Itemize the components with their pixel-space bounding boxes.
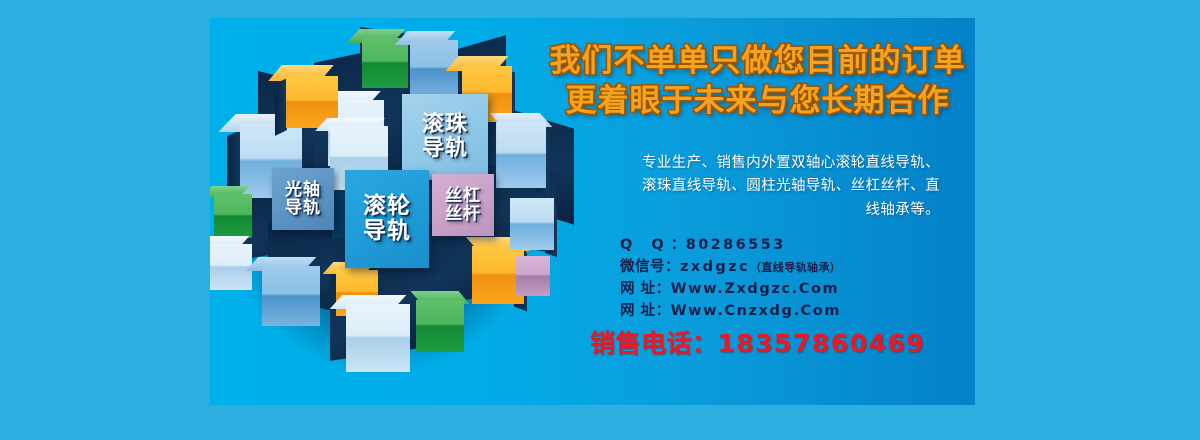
contact-value-qq[interactable]: 80286553 bbox=[686, 234, 786, 256]
sales-phone[interactable]: 销售电话：18357860469 bbox=[540, 324, 975, 360]
headline: 我们不单单只做您目前的订单 更着眼于未来与您长期合作 bbox=[540, 42, 975, 121]
copy-column: 我们不单单只做您目前的订单 更着眼于未来与您长期合作 专业生产、销售内外置双轴心… bbox=[540, 18, 975, 405]
cube-green bbox=[214, 194, 252, 238]
product-label-guangzhou-daogui[interactable]: 光轴 导轨 bbox=[272, 168, 334, 230]
description-paragraph: 专业生产、销售内外置双轴心滚轮直线导轨、 滚珠直线导轨、圆柱光轴导轨、丝杠丝杆、… bbox=[540, 152, 940, 222]
sales-phone-label: 销售电话： bbox=[590, 329, 718, 358]
product-label-line2: 导轨 bbox=[285, 199, 321, 217]
product-label-line1: 滚轮 bbox=[363, 194, 411, 219]
cube-green bbox=[362, 38, 408, 88]
contact-row-qq: Q Q ： 80286553 bbox=[540, 234, 975, 256]
contact-row-wechat: 微信号 ： zxdgzc （直线导轨轴承） bbox=[540, 256, 975, 278]
product-label-line1: 滚珠 bbox=[422, 113, 468, 137]
cube-pale bbox=[210, 244, 252, 290]
contact-label-qq: Q Q bbox=[620, 234, 671, 256]
product-label-sigang-sigan[interactable]: 丝杠 丝杆 bbox=[432, 174, 494, 236]
product-label-line2: 导轨 bbox=[363, 219, 411, 244]
contact-block: Q Q ： 80286553 微信号 ： zxdgzc （直线导轨轴承） 网 址… bbox=[540, 234, 975, 322]
contact-value-wechat[interactable]: zxdgzc bbox=[680, 256, 750, 278]
contact-separator: ： bbox=[665, 256, 680, 278]
banner-advertisement: 滚珠 导轨 光轴 导轨 滚轮 导轨 丝杠 丝杆 我们不单单只做您目前的订单 更着… bbox=[0, 0, 1200, 440]
description-line-3: 线轴承等。 bbox=[540, 199, 940, 222]
contact-note-wechat: （直线导轨轴承） bbox=[750, 260, 841, 277]
banner-panel: 滚珠 导轨 光轴 导轨 滚轮 导轨 丝杠 丝杆 我们不单单只做您目前的订单 更着… bbox=[210, 18, 975, 405]
description-line-2: 滚珠直线导轨、圆柱光轴导轨、丝杠丝杆、直 bbox=[540, 175, 940, 198]
contact-value-website-2[interactable]: Www.Cnzxdg.Com bbox=[671, 300, 842, 322]
cube-green bbox=[416, 300, 464, 352]
description-line-1: 专业生产、销售内外置双轴心滚轮直线导轨、 bbox=[540, 152, 940, 175]
product-label-line2: 丝杆 bbox=[445, 205, 481, 223]
contact-label-website: 网 址 bbox=[620, 278, 656, 300]
headline-line-2: 更着眼于未来与您长期合作 bbox=[540, 82, 975, 122]
contact-separator: ： bbox=[656, 300, 671, 322]
product-label-line1: 光轴 bbox=[285, 181, 321, 199]
contact-label-website: 网 址 bbox=[620, 300, 656, 322]
headline-line-1: 我们不单单只做您目前的订单 bbox=[540, 42, 975, 82]
product-label-gunzhu-daogui[interactable]: 滚珠 导轨 bbox=[402, 94, 488, 180]
contact-separator: ： bbox=[671, 234, 686, 256]
cube-pale bbox=[346, 304, 410, 372]
cube-blue bbox=[262, 266, 320, 326]
sales-phone-number[interactable]: 18357860469 bbox=[717, 329, 925, 358]
contact-row-website-1: 网 址 ： Www.Zxdgzc.Com bbox=[540, 278, 975, 300]
contact-row-website-2: 网 址 ： Www.Cnzxdg.Com bbox=[540, 300, 975, 322]
product-label-line2: 导轨 bbox=[422, 137, 468, 161]
cube-blue bbox=[496, 122, 546, 188]
contact-separator: ： bbox=[656, 278, 671, 300]
contact-value-website-1[interactable]: Www.Zxdgzc.Com bbox=[671, 278, 840, 300]
product-label-line1: 丝杠 bbox=[445, 187, 481, 205]
product-label-gunlun-daogui[interactable]: 滚轮 导轨 bbox=[345, 170, 429, 268]
contact-label-wechat: 微信号 bbox=[620, 256, 665, 278]
